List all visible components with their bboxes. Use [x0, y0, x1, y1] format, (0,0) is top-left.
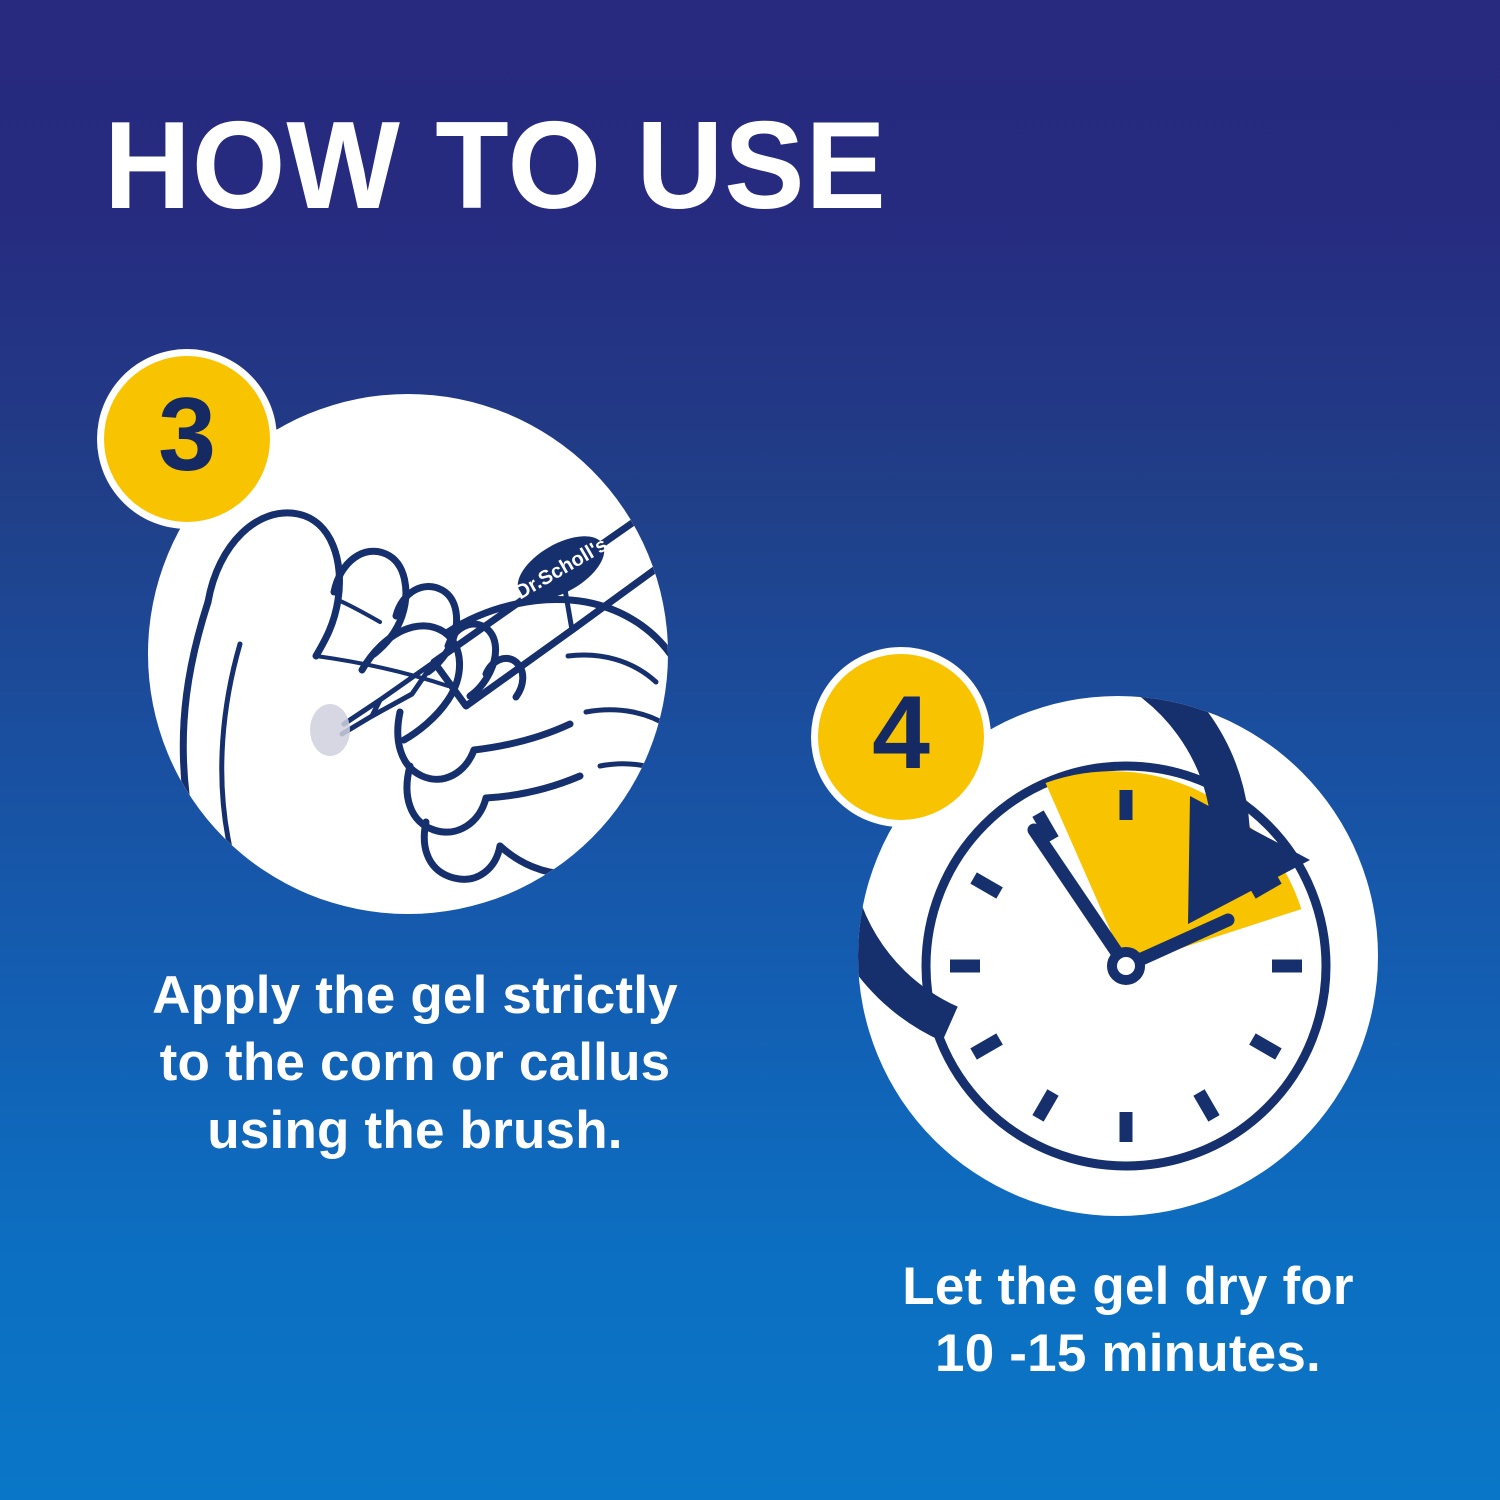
step-4-caption: Let the gel dry for 10 -15 minutes.	[815, 1253, 1441, 1388]
clock-center-pin	[1112, 952, 1140, 980]
gel-spot	[310, 704, 350, 756]
step-4-number: 4	[872, 681, 930, 785]
page-title: HOW TO USE	[104, 104, 887, 228]
step-3-caption: Apply the gel strictly to the corn or ca…	[90, 962, 740, 1164]
step-3-badge: 3	[104, 356, 270, 522]
how-to-use-panel: HOW TO USE	[0, 0, 1500, 1500]
step-4-badge: 4	[818, 654, 984, 820]
step-3-number: 3	[158, 383, 216, 487]
